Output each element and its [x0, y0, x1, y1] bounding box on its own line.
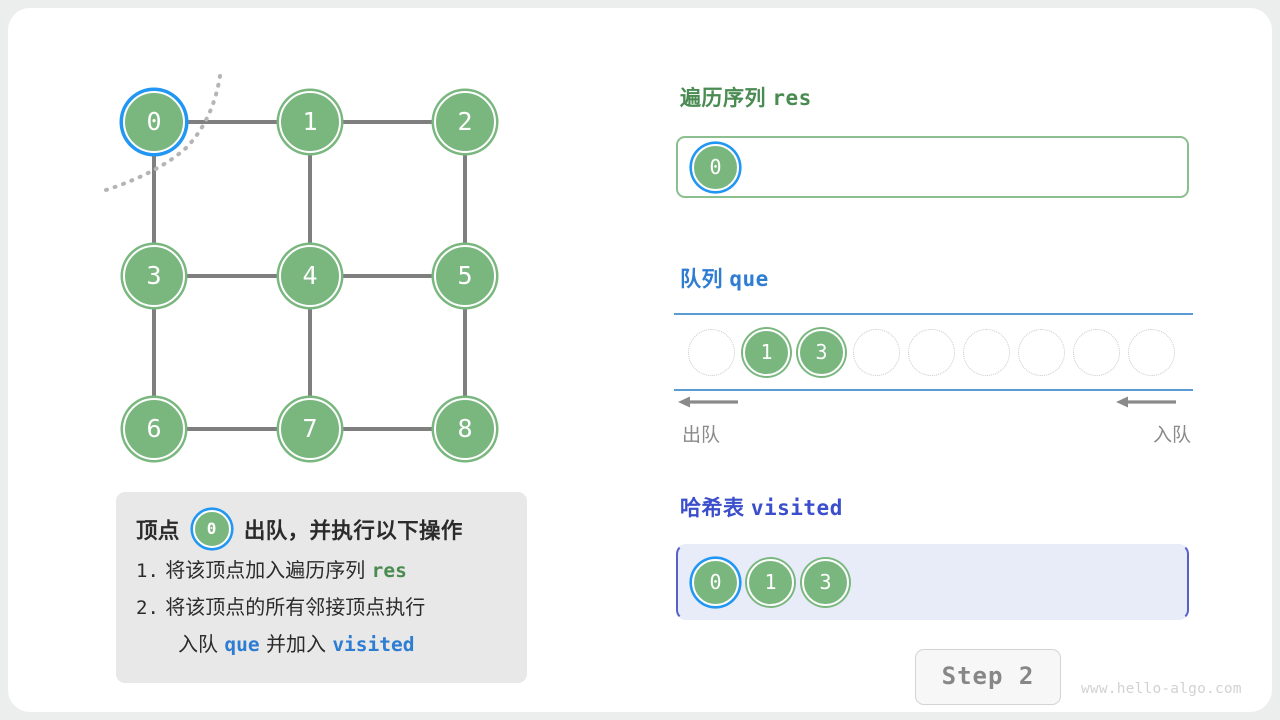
queue-slot-2: 3	[798, 329, 845, 376]
queue-slots: 13	[674, 313, 1193, 391]
caption-line-3: 入队 que 并加入 visited	[136, 626, 507, 663]
queue-slot-4	[908, 329, 955, 376]
caption-head-suffix: 出队，并执行以下操作	[244, 514, 463, 545]
caption-line-2-number: 2.	[136, 597, 159, 619]
queue-slot-7	[1073, 329, 1120, 376]
queue-slot-3	[853, 329, 900, 376]
graph-node-1[interactable]: 1	[279, 91, 341, 153]
enqueue-label: 入队	[1153, 420, 1191, 447]
state-panel: 遍历序列 res 0 队列 que 13 出队 入队	[668, 8, 1228, 712]
graph-panel: 012345678 顶点 0 出队，并执行以下操作 1. 将该顶点加入遍历序列 …	[8, 8, 628, 712]
dequeue-arrow-icon	[678, 395, 740, 409]
enqueue-arrow-icon	[1116, 395, 1178, 409]
visited-title-code: visited	[751, 496, 843, 520]
caption-code-res: res	[372, 559, 407, 582]
watermark: www.hello-algo.com	[1081, 681, 1242, 697]
caption-line-1: 1. 将该顶点加入遍历序列 res	[136, 552, 507, 589]
res-title-code: res	[772, 86, 811, 110]
step-badge: Step 2	[915, 649, 1061, 705]
caption-line-3-mid: 并加入	[266, 632, 326, 656]
queue-slot-1: 1	[743, 329, 790, 376]
graph-node-8[interactable]: 8	[434, 398, 496, 460]
queue-slot-6	[1018, 329, 1065, 376]
caption-line-1-number: 1.	[136, 560, 159, 582]
visited-item-1: 1	[747, 559, 794, 606]
caption-heading: 顶点 0 出队，并执行以下操作	[136, 506, 507, 552]
res-container: 0	[676, 136, 1189, 198]
graph-node-4[interactable]: 4	[279, 245, 341, 307]
queue-section-title: 队列 que	[680, 263, 769, 293]
caption-box: 顶点 0 出队，并执行以下操作 1. 将该顶点加入遍历序列 res 2. 将该顶…	[116, 492, 527, 683]
graph-node-6[interactable]: 6	[123, 398, 185, 460]
graph-node-7[interactable]: 7	[279, 398, 341, 460]
caption-node-0: 0	[193, 510, 231, 548]
res-title-cn: 遍历序列	[680, 87, 766, 110]
queue-title-cn: 队列	[680, 268, 723, 291]
visited-item-0: 0	[692, 559, 739, 606]
caption-line-1-text: 将该顶点加入遍历序列	[165, 558, 365, 582]
content-card: 012345678 顶点 0 出队，并执行以下操作 1. 将该顶点加入遍历序列 …	[8, 8, 1272, 712]
graph-node-5[interactable]: 5	[434, 245, 496, 307]
graph-node-2[interactable]: 2	[434, 91, 496, 153]
visited-item-2: 3	[802, 559, 849, 606]
caption-line-2-text: 将该顶点的所有邻接顶点执行	[165, 595, 425, 619]
queue-container: 13	[674, 313, 1193, 391]
caption-line-2: 2. 将该顶点的所有邻接顶点执行	[136, 589, 507, 626]
visited-container: 013	[676, 544, 1189, 620]
visited-section-title: 哈希表 visited	[680, 492, 843, 522]
caption-line-3-prefix: 入队	[178, 632, 218, 656]
res-section-title: 遍历序列 res	[680, 82, 812, 112]
queue-title-code: que	[729, 267, 768, 291]
queue-slot-5	[963, 329, 1010, 376]
res-item-0: 0	[692, 144, 739, 191]
screenshot-root: 012345678 顶点 0 出队，并执行以下操作 1. 将该顶点加入遍历序列 …	[0, 0, 1280, 720]
graph-node-0[interactable]: 0	[123, 91, 185, 153]
graph-node-3[interactable]: 3	[123, 245, 185, 307]
caption-code-que: que	[224, 633, 259, 656]
dequeue-label: 出队	[682, 420, 720, 447]
queue-slot-0	[688, 329, 735, 376]
queue-slot-8	[1128, 329, 1175, 376]
caption-code-visited: visited	[332, 633, 414, 656]
caption-head-prefix: 顶点	[136, 514, 180, 545]
visited-title-cn: 哈希表	[680, 497, 745, 520]
